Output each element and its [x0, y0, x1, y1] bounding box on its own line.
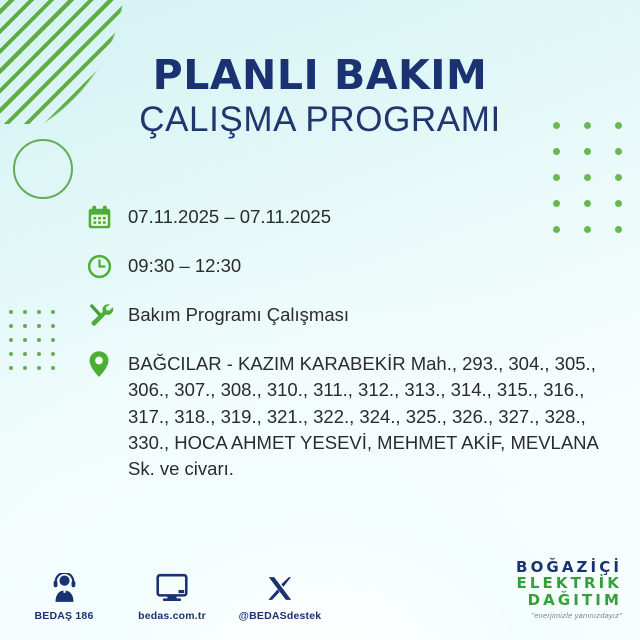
logo-line-dagitim: DAĞITIM [516, 592, 622, 609]
logo-tagline: "enerjimizle yanınızdayız" [516, 611, 622, 620]
date-range-text: 07.11.2025 – 07.11.2025 [128, 200, 331, 230]
address-text: BAĞCILAR - KAZIM KARABEKİR Mah., 293., 3… [128, 347, 628, 482]
planned-maintenance-poster: PLANLI BAKIM ÇALIŞMA PROGRAMI [0, 0, 640, 640]
bedas-logo: BOĞAZİÇİ ELEKTRİK DAĞITIM "enerjimizle y… [516, 559, 622, 620]
poster-footer: BEDAŞ 186 bedas.com.tr [0, 554, 640, 626]
page-subtitle: ÇALIŞMA PROGRAMI [0, 101, 640, 140]
page-title: PLANLI BAKIM [0, 54, 640, 97]
wrench-screwdriver-icon [86, 298, 128, 332]
contact-x-twitter[interactable]: @BEDASdestek [238, 571, 322, 622]
contact-label: @BEDASdestek [238, 610, 322, 622]
contact-label: bedas.com.tr [130, 610, 214, 622]
headset-agent-icon [22, 571, 106, 603]
logo-line-elektrik: ELEKTRİK [516, 575, 622, 592]
detail-row-work-type: Bakım Programı Çalışması [86, 298, 631, 332]
poster-header: PLANLI BAKIM ÇALIŞMA PROGRAMI [0, 54, 640, 140]
contact-label: BEDAŞ 186 [22, 610, 106, 622]
contact-call-center[interactable]: BEDAŞ 186 [22, 571, 106, 622]
location-pin-icon [86, 347, 128, 381]
time-range-text: 09:30 – 12:30 [128, 249, 241, 279]
dot-grid-left-decoration [9, 310, 65, 380]
detail-row-date: 07.11.2025 – 07.11.2025 [86, 200, 631, 234]
monitor-icon [130, 571, 214, 603]
work-type-text: Bakım Programı Çalışması [128, 298, 349, 328]
maintenance-details: 07.11.2025 – 07.11.2025 09:30 – 12:30 Ba… [86, 200, 631, 497]
calendar-icon [86, 200, 128, 234]
detail-row-address: BAĞCILAR - KAZIM KARABEKİR Mah., 293., 3… [86, 347, 631, 482]
circle-outline-decoration [13, 139, 73, 199]
detail-row-time: 09:30 – 12:30 [86, 249, 631, 283]
x-twitter-icon [238, 571, 322, 603]
logo-line-bogazici: BOĞAZİÇİ [516, 559, 622, 576]
contact-channels: BEDAŞ 186 bedas.com.tr [22, 571, 322, 622]
clock-icon [86, 249, 128, 283]
contact-website[interactable]: bedas.com.tr [130, 571, 214, 622]
